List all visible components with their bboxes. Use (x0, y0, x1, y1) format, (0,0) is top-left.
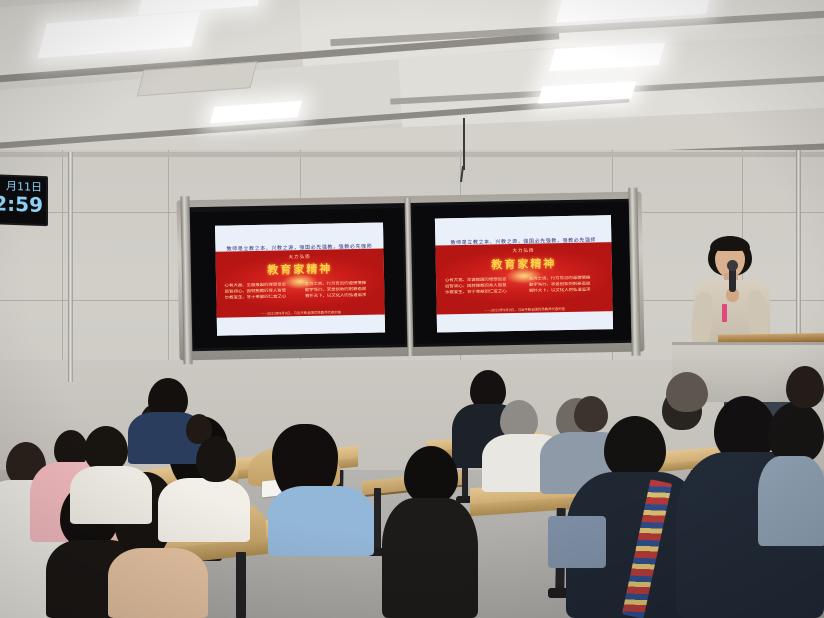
projection-screen-right[interactable]: 教师是立教之本、兴教之源，强国必先强教，强教必先强师 大力弘扬 教育家精神 心有… (413, 202, 632, 344)
ceiling (0, 0, 824, 170)
clock-time: 2:59 (0, 192, 46, 216)
projection-screen-left[interactable]: 教师是立教之本、兴教之源，强国必先强教，强教必先强师 大力弘扬 教育家精神 心有… (191, 208, 406, 348)
lecture-hall-photo: 月11日 2:59 教师是立教之本、兴教之源，强国必先强教，强教必先强师 大力弘… (0, 0, 824, 618)
wall-pillar-left (68, 152, 73, 382)
slide-point: 胸怀天下、以文化人的弘道追求 (305, 293, 376, 301)
slide-title-right: 教育家精神 (436, 254, 612, 273)
slide-title-left: 教育家精神 (216, 260, 384, 279)
wall-trim (0, 152, 824, 157)
hanging-cable (463, 118, 465, 170)
presenter-fringe (710, 236, 750, 251)
backpack-on-desk (548, 516, 606, 568)
led-wall-clock: 月11日 2:59 (0, 174, 48, 226)
slide-point: 乐教爱生、甘于奉献的仁爱之心 (445, 289, 520, 297)
podium-edge (672, 342, 824, 345)
slide-point: 乐教爱生、甘于奉献的仁爱之心 (225, 294, 296, 302)
slide-point: 胸怀天下、以文化人的弘道追求 (529, 288, 604, 296)
dual-screen-assembly: 教师是立教之本、兴教之源，强国必先强教，强教必先强师 大力弘扬 教育家精神 心有… (177, 192, 645, 361)
presenter-ribbon-badge (722, 304, 727, 322)
microphone-head (727, 260, 738, 271)
